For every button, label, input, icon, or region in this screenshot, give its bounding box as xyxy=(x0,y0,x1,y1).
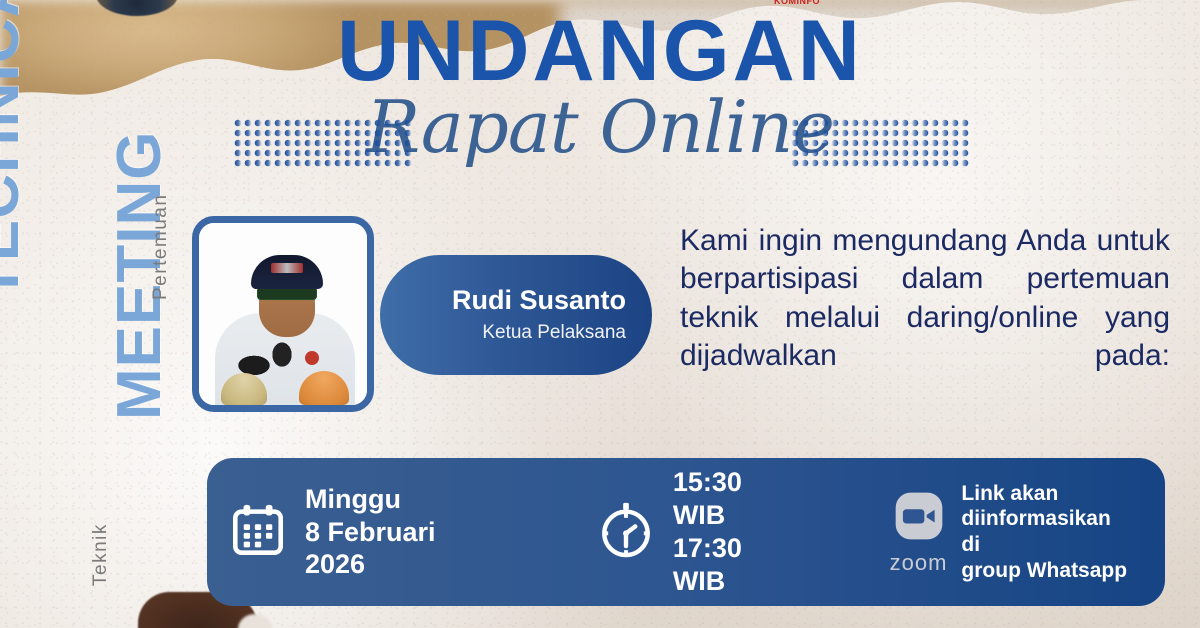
invitation-poster: KOMINFO TECHNICAL MEETING Teknik Pertemu… xyxy=(0,0,1200,628)
page-title: UNDANGAN xyxy=(0,8,1200,94)
event-date-full: 8 Februari 2026 xyxy=(305,516,503,582)
event-details-bar: Minggu 8 Februari 2026 xyxy=(207,458,1165,606)
calendar-icon xyxy=(229,501,287,563)
event-date-item: Minggu 8 Februari 2026 xyxy=(229,483,503,582)
zoom-wordmark: zoom xyxy=(890,550,948,576)
vertical-label-teknik: Teknik xyxy=(90,523,112,586)
event-time-end: 17:30 WIB xyxy=(673,532,802,598)
event-link-line1: Link akan xyxy=(961,481,1135,507)
zoom-icon xyxy=(891,488,947,548)
stopwatch-icon xyxy=(595,499,657,565)
invitation-paragraph: Kami ingin mengundang Anda untuk berpart… xyxy=(680,222,1170,414)
speaker-name-card: Rudi Susanto Ketua Pelaksana xyxy=(380,255,652,375)
speaker-photo xyxy=(192,216,374,412)
event-time-start: 15:30 WIB xyxy=(673,466,802,532)
event-link-line3: group Whatsapp xyxy=(961,558,1135,584)
zoom-logo: zoom xyxy=(890,488,948,576)
speaker-name: Rudi Susanto xyxy=(452,286,626,316)
speaker-role: Ketua Pelaksana xyxy=(482,322,626,344)
halftone-dots-left-icon xyxy=(234,118,414,168)
halftone-dots-right-icon xyxy=(790,118,970,168)
event-date-day: Minggu xyxy=(305,483,503,516)
event-time-item: 15:30 WIB 17:30 WIB xyxy=(595,466,802,598)
vertical-label-pertemuan: Pertemuan xyxy=(150,194,172,300)
event-link-item: zoom Link akan diinformasikan di group W… xyxy=(890,481,1135,583)
event-link-line2: diinformasikan di xyxy=(961,506,1135,557)
page-subtitle-script: Rapat Online xyxy=(0,88,1200,167)
